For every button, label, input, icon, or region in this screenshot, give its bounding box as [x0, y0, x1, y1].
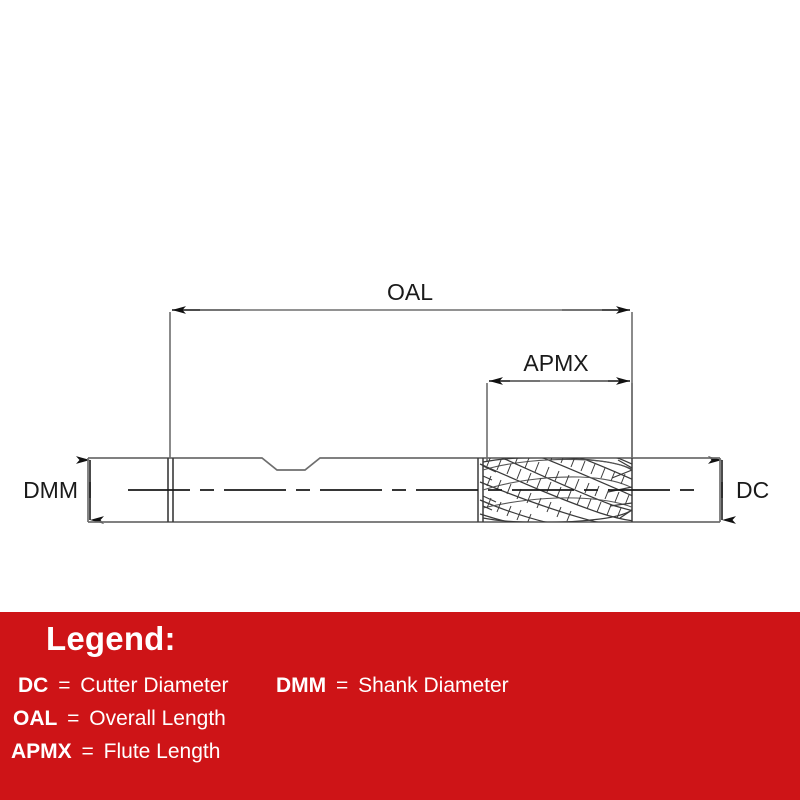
legend-row: APMX = Flute Length: [0, 740, 800, 773]
dc-label: DC: [736, 477, 769, 503]
legend-equals: =: [336, 674, 348, 697]
tool-diagram-page: OAL APMX DMM DC: [0, 0, 800, 800]
legend-row: DC = Cutter Diameter DMM = Shank Diamete…: [0, 674, 800, 707]
apmx-label: APMX: [523, 350, 588, 376]
legend-definition-oal: Overall Length: [89, 707, 226, 730]
legend-banner: Legend: DC = Cutter Diameter DMM = Shank…: [0, 612, 800, 800]
legend-entry-dmm: DMM = Shank Diameter: [276, 674, 509, 698]
oal-label: OAL: [387, 279, 433, 305]
legend-abbr-apmx: APMX: [11, 740, 72, 763]
legend-title: Legend:: [46, 622, 176, 655]
legend-definition-dc: Cutter Diameter: [80, 674, 228, 697]
legend-entry-dc: DC = Cutter Diameter: [18, 674, 229, 698]
legend-abbr-dmm: DMM: [276, 674, 326, 697]
legend-abbr-oal: OAL: [13, 707, 57, 730]
legend-equals: =: [58, 674, 70, 697]
technical-drawing-canvas: OAL APMX DMM DC: [0, 0, 800, 612]
legend-entry-oal: OAL = Overall Length: [13, 707, 226, 731]
legend-abbr-dc: DC: [18, 674, 48, 697]
legend-equals: =: [67, 707, 79, 730]
legend-row: OAL = Overall Length: [0, 707, 800, 740]
legend-definition-dmm: Shank Diameter: [358, 674, 509, 697]
legend-entry-apmx: APMX = Flute Length: [11, 740, 220, 764]
drawing-background: [0, 0, 800, 612]
legend-equals: =: [82, 740, 94, 763]
end-mill-drawing-svg: OAL APMX DMM DC: [0, 0, 800, 612]
dmm-label: DMM: [23, 477, 78, 503]
legend-definition-apmx: Flute Length: [104, 740, 221, 763]
legend-entries: DC = Cutter Diameter DMM = Shank Diamete…: [0, 674, 800, 773]
